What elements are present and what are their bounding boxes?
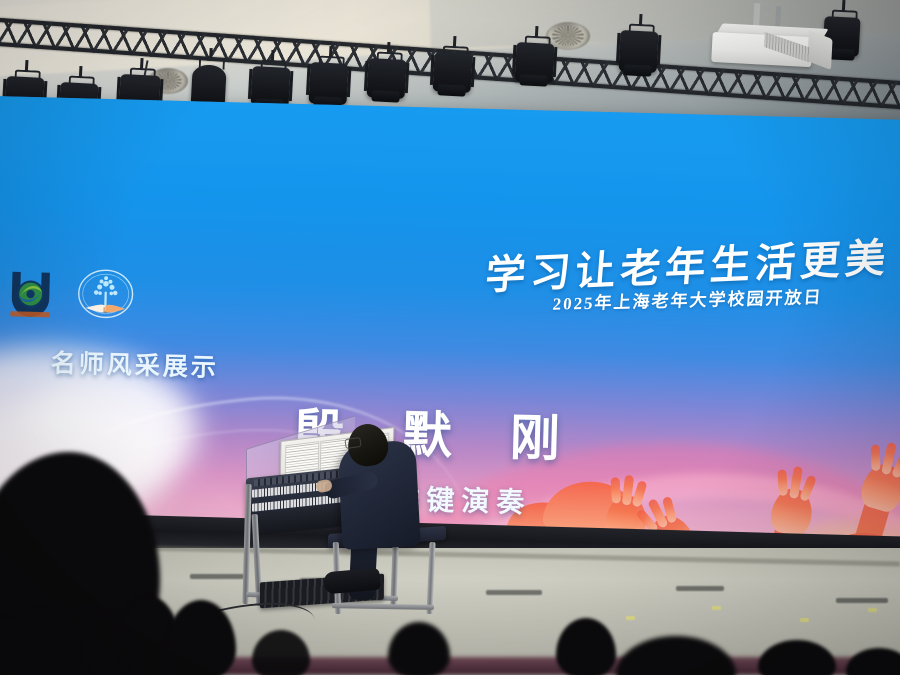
silhouette-finger: [777, 469, 788, 496]
floor-tape-mark: [712, 606, 721, 610]
floor-tape-mark: [800, 618, 809, 622]
stage-light-icon: [367, 41, 408, 99]
stage-light-icon: [433, 35, 474, 93]
silhouette-finger: [610, 477, 621, 504]
silhouette-finger: [631, 480, 647, 507]
screen-section-label: 名师风采展示: [50, 344, 219, 384]
floor-tape-mark: [626, 616, 635, 620]
lamp-body: [433, 52, 473, 93]
stage-light-icon: [515, 25, 556, 83]
organ-stand-leg: [242, 484, 251, 604]
silhouette-finger: [799, 475, 817, 502]
shanghai-open-university-logo-icon: [4, 266, 57, 319]
lamp-lens: [437, 84, 466, 96]
lamp-body: [619, 30, 659, 73]
floor-recess: [836, 598, 888, 603]
floor-tape-mark: [868, 608, 877, 612]
lamp-body: [309, 62, 349, 105]
logo-group: [0, 264, 151, 326]
organ-bench-leg: [426, 542, 435, 614]
performance-rig: [232, 418, 482, 628]
stage-light-icon: [619, 13, 660, 73]
lamp-lens: [519, 74, 548, 86]
lamp-body: [367, 58, 407, 99]
lamp-body: [251, 66, 291, 107]
lamp-lens: [371, 90, 400, 102]
elderly-university-logo-icon: [74, 266, 137, 324]
screenshot-root: 学习让老年生活更美 2025年上海老年大学校园开放日 名师风采展示 殷 默 刚 …: [0, 0, 900, 675]
stage-light-icon: [309, 45, 350, 105]
lamp-lens: [623, 64, 652, 76]
stage-light-icon: [251, 49, 292, 107]
ceiling-projector: [711, 23, 831, 73]
floor-recess: [676, 586, 724, 591]
silhouette-finger: [871, 445, 881, 471]
organ-bench-crossbar: [332, 603, 434, 610]
floor-recess: [486, 590, 542, 595]
lamp-body: [515, 42, 555, 83]
